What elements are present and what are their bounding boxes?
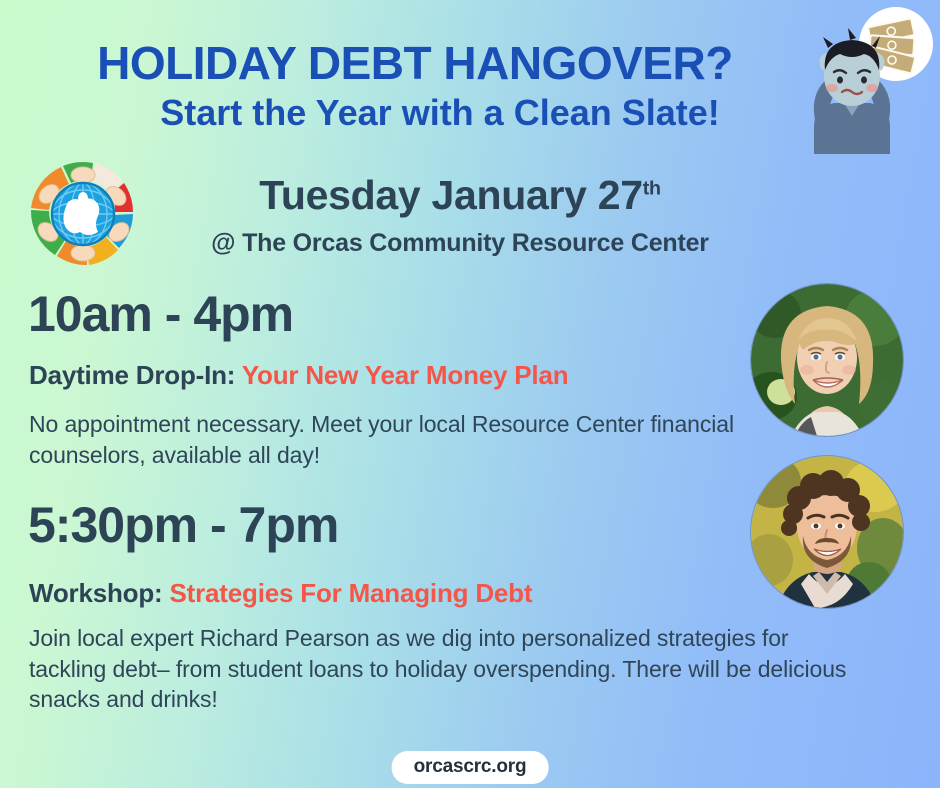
session-2-title: Workshop: Strategies For Managing Debt: [29, 578, 532, 609]
session-2-time: 5:30pm - 7pm: [28, 500, 338, 550]
session-1-description: No appointment necessary. Meet your loca…: [29, 409, 749, 470]
session-2-topic: Strategies For Managing Debt: [170, 578, 533, 608]
session-1-time: 10am - 4pm: [28, 289, 293, 339]
session-2-label: Workshop:: [29, 578, 163, 608]
event-date: Tuesday January 27th: [150, 172, 770, 219]
event-venue: @ The Orcas Community Resource Center: [150, 229, 770, 258]
flyer-canvas: HOLIDAY DEBT HANGOVER? Start the Year wi…: [0, 0, 940, 788]
headline: HOLIDAY DEBT HANGOVER?: [0, 40, 830, 87]
portrait-man-avatar: [751, 456, 903, 608]
session-1-topic: Your New Year Money Plan: [242, 360, 569, 390]
session-1-label: Daytime Drop-In:: [29, 360, 235, 390]
worried-person-icon: [792, 4, 940, 154]
crc-logo-icon: [24, 158, 142, 270]
website-badge[interactable]: orcascrc.org: [392, 751, 549, 784]
session-2-description: Join local expert Richard Pearson as we …: [29, 623, 859, 715]
session-1-title: Daytime Drop-In: Your New Year Money Pla…: [29, 360, 568, 391]
portrait-woman-avatar: [751, 284, 903, 436]
event-date-ordinal: th: [643, 177, 661, 199]
subheadline: Start the Year with a Clean Slate!: [0, 94, 880, 132]
event-date-text: Tuesday January 27: [259, 172, 643, 218]
